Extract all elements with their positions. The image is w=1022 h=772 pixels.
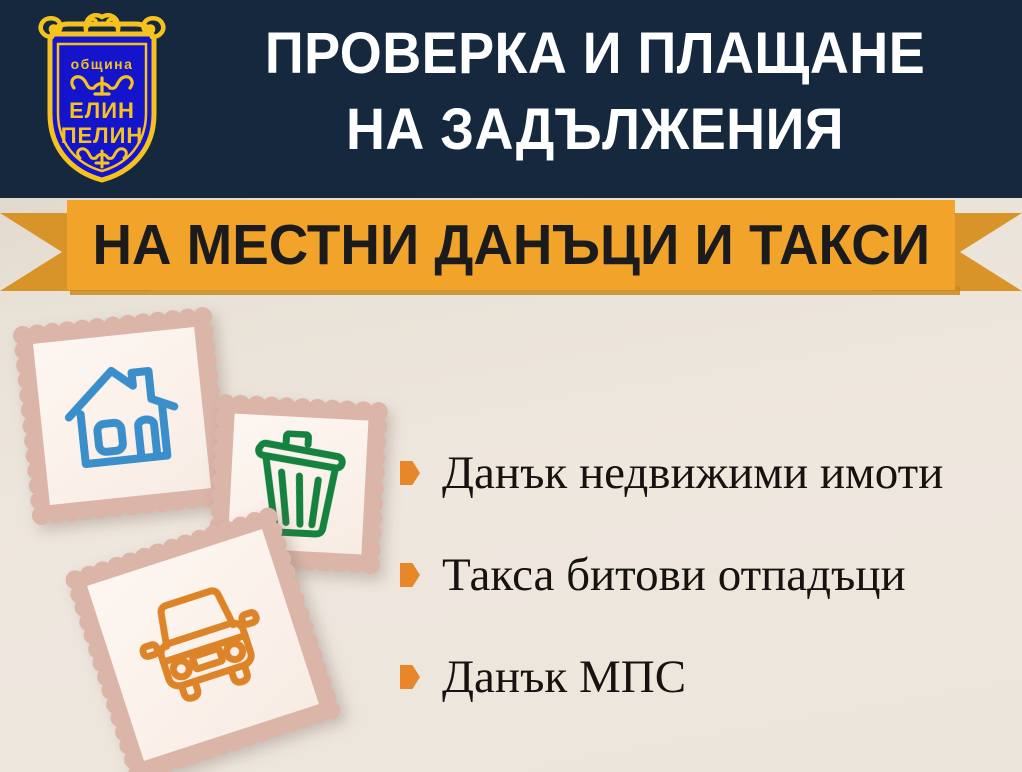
bullet-arrow-icon <box>400 563 420 587</box>
ribbon-band: НА МЕСТНИ ДАНЪЦИ И ТАКСИ <box>67 200 955 290</box>
bullet-arrow-icon <box>400 461 420 485</box>
list-item-label: Данък МПС <box>442 652 686 702</box>
list-item-label: Данък недвижими имоти <box>442 448 943 498</box>
list-item[interactable]: Данък недвижими имоти <box>400 422 1010 524</box>
stamp-inner <box>87 529 319 761</box>
house-icon <box>57 354 186 478</box>
tax-type-list: Данък недвижими имоти Такса битови отпад… <box>400 422 1010 728</box>
svg-text:ЕЛИН: ЕЛИН <box>69 98 135 123</box>
ribbon-label: НА МЕСТНИ ДАНЪЦИ И ТАКСИ <box>92 217 930 274</box>
svg-text:община: община <box>71 56 134 72</box>
stamp-card-house <box>12 306 232 526</box>
list-item-label: Такса битови отпадъци <box>442 550 906 600</box>
coat-of-arms-icon: община ЕЛИН ПЕЛИН <box>22 6 182 188</box>
svg-text:ПЕЛИН: ПЕЛИН <box>61 123 144 148</box>
bullet-arrow-icon <box>400 665 420 689</box>
list-item[interactable]: Данък МПС <box>400 626 1010 728</box>
ribbon-banner: НА МЕСТНИ ДАНЪЦИ И ТАКСИ <box>0 196 1022 302</box>
poster-canvas: ПРОВЕРКА И ПЛАЩАНЕ НА ЗАДЪЛЖЕНИЯ община <box>0 0 1022 772</box>
page-title: ПРОВЕРКА И ПЛАЩАНЕ НА ЗАДЪЛЖЕНИЯ <box>209 16 981 168</box>
stamp-inner <box>33 327 211 505</box>
stamp-frame <box>12 306 232 526</box>
list-item[interactable]: Такса битови отпадъци <box>400 524 1010 626</box>
car-icon <box>126 572 280 717</box>
